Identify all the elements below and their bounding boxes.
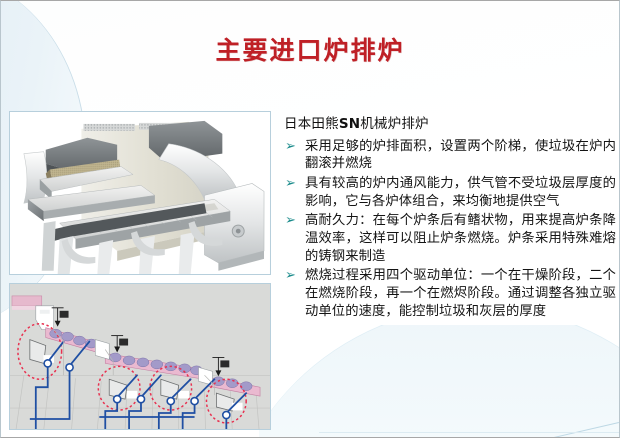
- schematic-image: [9, 283, 271, 430]
- content-text-column: 日本田熊SN机械炉排炉 ➢ 采用足够的炉排面积，设置两个阶梯，使垃圾在炉内翻滚并…: [284, 115, 616, 322]
- arrow-bullet-icon: ➢: [285, 177, 298, 190]
- lead-bold-sn: SN: [339, 116, 360, 132]
- bottom-diagonal-line: [317, 422, 619, 438]
- list-item: ➢ 燃烧过程采用四个驱动单位：一个在干燥阶段，二个在燃烧阶段，再一个在燃烬阶段。…: [284, 267, 616, 320]
- list-item: ➢ 高耐久力：在每个炉条后有鳍状物，用来提高炉条降温效率，这样可以阻止炉条燃烧。…: [284, 212, 616, 265]
- slide-canvas: 主要进口炉排炉: [0, 0, 620, 438]
- arrow-bullet-icon: ➢: [285, 269, 298, 282]
- list-item-text: 燃烧过程采用四个驱动单位：一个在干燥阶段，二个在燃烧阶段，再一个在燃烬阶段。通过…: [305, 268, 616, 318]
- grate-drive-units-schematic: [10, 284, 270, 430]
- list-item: ➢ 采用足够的炉排面积，设置两个阶梯，使垃圾在炉内翻滚并燃烧: [284, 138, 616, 173]
- list-item: ➢ 具有较高的炉内通风能力，供气管不受垃圾层厚度的影响，它与各炉体组合，来均衡地…: [284, 175, 616, 210]
- bullet-list: ➢ 采用足够的炉排面积，设置两个阶梯，使垃圾在炉内翻滚并燃烧 ➢ 具有较高的炉内…: [284, 138, 616, 321]
- furnace-render-image: [9, 111, 271, 275]
- bottom-horizontal-line: [319, 432, 619, 433]
- lead-heading: 日本田熊SN机械炉排炉: [284, 115, 616, 135]
- grate-furnace-3d-render: [10, 112, 270, 275]
- list-item-text: 具有较高的炉内通风能力，供气管不受垃圾层厚度的影响，它与各炉体组合，来均衡地提供…: [305, 176, 616, 209]
- arrow-bullet-icon: ➢: [285, 214, 298, 227]
- lead-prefix: 日本田熊: [284, 116, 339, 132]
- page-title: 主要进口炉排炉: [1, 31, 619, 67]
- list-item-text: 高耐久力：在每个炉条后有鳍状物，用来提高炉条降温效率，这样可以阻止炉条燃烧。炉条…: [305, 213, 616, 263]
- list-item-text: 采用足够的炉排面积，设置两个阶梯，使垃圾在炉内翻滚并燃烧: [305, 139, 616, 172]
- bottom-wedge-decoration: [259, 325, 619, 437]
- arrow-bullet-icon: ➢: [285, 140, 298, 153]
- lead-suffix: 机械炉排炉: [360, 116, 429, 132]
